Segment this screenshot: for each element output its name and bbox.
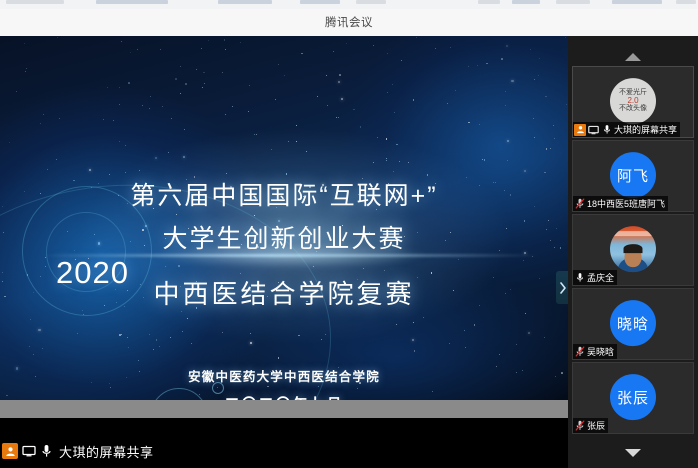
- presentation-slide: 2020 第六届中国国际“互联网+” 大学生创新创业大赛 中西医结合学院复赛 安…: [0, 36, 568, 400]
- microphone-icon: [601, 124, 612, 135]
- participant-tile-screen-share[interactable]: 不爱光斤 2.0 不改头像: [572, 66, 694, 138]
- slide-window-chrome: [0, 400, 568, 418]
- sidebar-scroll-down-button[interactable]: [568, 444, 698, 462]
- participant-tiles: 不爱光斤 2.0 不改头像: [572, 66, 694, 444]
- triangle-down-icon: [624, 448, 642, 458]
- participant-name: 18中西医5班唐阿飞: [587, 197, 665, 210]
- participant-name: 张辰: [587, 419, 605, 432]
- screen-share-icon: [588, 124, 599, 135]
- avatar-note-line-3: 不改头像: [619, 105, 647, 112]
- participant-tile[interactable]: 晓晗 吴晓晗: [572, 288, 694, 360]
- microphone-muted-icon: [574, 420, 585, 431]
- microphone-icon: [39, 444, 54, 459]
- share-status-bar: 大琪的屏幕共享: [0, 440, 154, 462]
- participant-name: 孟庆全: [587, 271, 614, 284]
- slide-title-line-2: 大学生创新创业大赛: [0, 219, 568, 255]
- avatar: [610, 226, 656, 272]
- participant-name-bar: 孟庆全: [573, 270, 617, 285]
- slide-title-line-1: 第六届中国国际“互联网+”: [0, 176, 568, 212]
- sidebar-scroll-up-button[interactable]: [568, 48, 698, 66]
- avatar-note-line-2: 2.0: [627, 97, 638, 105]
- person-icon: [2, 443, 18, 459]
- avatar: 阿飞: [610, 152, 656, 198]
- person-icon: [574, 124, 586, 136]
- triangle-up-icon: [624, 52, 642, 62]
- slide-title-line-3: 中西医结合学院复赛: [0, 274, 568, 311]
- participant-name: 大琪的屏幕共享: [614, 123, 677, 136]
- window-title-bar: 腾讯会议: [0, 9, 698, 37]
- participant-name-bar: 吴晓晗: [573, 344, 617, 359]
- browser-chrome-strip: [0, 0, 698, 9]
- participant-sidebar: 不爱光斤 2.0 不改头像: [568, 36, 698, 468]
- participant-name-bar: 大琪的屏幕共享: [573, 122, 680, 137]
- avatar: 张辰: [610, 374, 656, 420]
- participant-name-bar: 18中西医5班唐阿飞: [573, 196, 668, 211]
- chevron-right-icon: [559, 282, 567, 294]
- participant-name-bar: 张辰: [573, 418, 608, 433]
- slide-date: 二〇二〇年七月: [0, 393, 568, 400]
- participant-tile[interactable]: 孟庆全: [572, 214, 694, 286]
- participant-name: 吴晓晗: [587, 345, 614, 358]
- screen-share-icon: [21, 444, 36, 459]
- participant-tile[interactable]: 张辰 张辰: [572, 362, 694, 434]
- microphone-muted-icon: [574, 198, 585, 209]
- microphone-icon: [574, 272, 585, 283]
- avatar: 不爱光斤 2.0 不改头像: [610, 78, 656, 124]
- participant-tile[interactable]: 阿飞 18中西医5班唐阿飞: [572, 140, 694, 212]
- shared-screen-stage[interactable]: 2020 第六届中国国际“互联网+” 大学生创新创业大赛 中西医结合学院复赛 安…: [0, 36, 568, 468]
- avatar: 晓晗: [610, 300, 656, 346]
- slide-organization: 安徽中医药大学中西医结合学院: [0, 366, 568, 385]
- panel-collapse-handle[interactable]: [556, 271, 568, 304]
- microphone-muted-icon: [574, 346, 585, 357]
- share-status-label: 大琪的屏幕共享: [59, 442, 154, 461]
- meeting-app: 2020 第六届中国国际“互联网+” 大学生创新创业大赛 中西医结合学院复赛 安…: [0, 36, 698, 468]
- window-title: 腾讯会议: [0, 14, 698, 30]
